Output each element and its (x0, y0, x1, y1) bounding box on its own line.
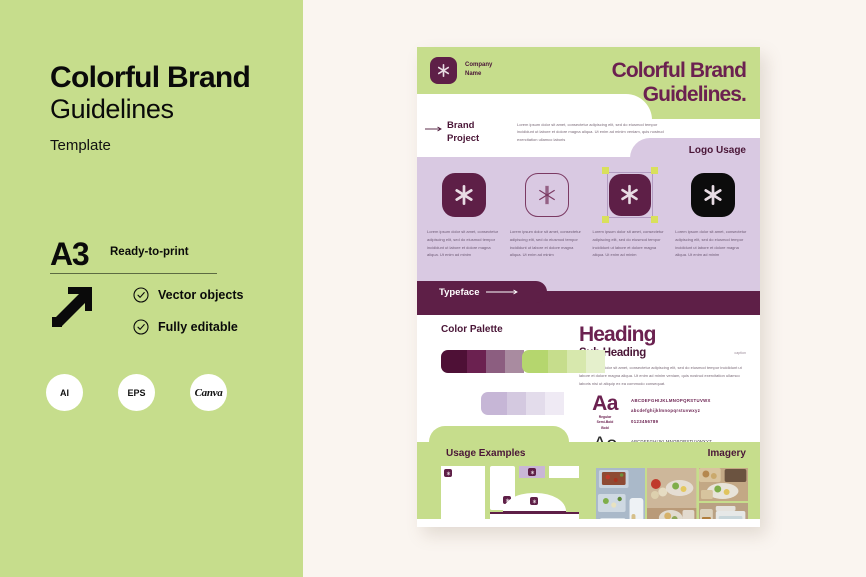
poster-preview[interactable]: Company Name www.yourwebsitehere.com Col… (417, 47, 760, 527)
feature-label: Vector objects (158, 288, 243, 302)
specimen-sample-wrap: Aa Regular Semi-Bold Bold (579, 394, 631, 430)
logo-box (427, 167, 502, 222)
usage-curve-shape (429, 426, 569, 444)
badge-eps: EPS (118, 374, 155, 411)
logo-usage-section: Lorem ipsum dolor sit amet, consectetur … (417, 157, 760, 291)
mockup-card-lilac (519, 466, 545, 478)
left-promo-panel: Colorful Brand Guidelines Template A3 Re… (0, 0, 303, 577)
color-palette-block: Color Palette (429, 324, 573, 442)
asterisk-mark-icon (444, 469, 452, 477)
palette-typography-section: Color Palette Heading Sub Heading captio… (417, 315, 760, 442)
diagonal-arrow-icon (48, 283, 96, 331)
logo-usage-title: Logo Usage (689, 145, 746, 156)
poster-header: Company Name www.yourwebsitehere.com Col… (417, 47, 760, 119)
badge-canva: Canva (190, 374, 227, 411)
promo-title-line2: Guidelines (50, 94, 174, 125)
check-circle-icon (133, 287, 149, 303)
guide-marker-top-right (651, 167, 658, 174)
brand-project-line1: Brand (447, 120, 479, 133)
color-swatch (441, 350, 467, 373)
guide-marker-bottom-right (651, 216, 658, 223)
typeface-tab: Typeface (417, 281, 547, 303)
badge-label: Canva (195, 387, 223, 399)
guide-marker-top-left (602, 167, 609, 174)
mockup-poster (441, 466, 485, 527)
brand-project-strip: Brand Project Lorem ipsum dolor sit amet… (417, 119, 760, 157)
color-palette-title: Color Palette (441, 324, 573, 335)
brand-project-label: Brand Project (447, 120, 479, 146)
color-swatch (522, 350, 548, 373)
divider (50, 273, 217, 274)
feature-fully-editable: Fully editable (133, 319, 238, 335)
logo-variant-grid: Lorem ipsum dolor sit amet, consectetur … (593, 167, 668, 259)
swatch-group-greens (522, 350, 605, 373)
logo-variant-caption: Lorem ipsum dolor sit amet, consectetur … (675, 228, 750, 259)
type-specimen-bold: Aa Regular Semi-Bold Bold ABCDEFGHIJKLMN… (579, 394, 748, 430)
poster-title-line1: Colorful Brand (612, 59, 746, 83)
specimen-uppercase: ABCDEFGHIJKLMNOPQRSTUVWX (631, 394, 711, 404)
feature-vector-objects: Vector objects (133, 287, 243, 303)
format-badges: AI EPS Canva (46, 374, 227, 411)
logo-box (593, 167, 668, 222)
specimen-alphabet: ABCDEFGHIJKLMNOPQRSTUVWX abcdefghijklmno… (631, 394, 711, 424)
logo-box (510, 167, 585, 222)
header-curve-shape (417, 94, 652, 120)
logo-variant-solid: Lorem ipsum dolor sit amet, consectetur … (427, 167, 502, 259)
poster-footer-strip (417, 519, 760, 527)
arrow-right-icon (486, 287, 520, 298)
company-name: Company Name (465, 61, 492, 78)
guide-marker-bottom-left (602, 216, 609, 223)
arrow-right-icon (425, 124, 443, 137)
logo-variant-grid: Lorem ipsum dolor sit amet, consectetur … (427, 167, 750, 259)
badge-label: EPS (127, 388, 145, 398)
color-swatch (481, 392, 507, 415)
imagery-photo (699, 468, 748, 501)
swatch-group-purples (441, 350, 524, 373)
asterisk-mark-solid-icon (442, 173, 486, 217)
logo-clearspace-guides (602, 167, 658, 223)
logo-variant-caption: Lorem ipsum dolor sit amet, consectetur … (427, 228, 502, 259)
asterisk-mark-solid-icon (609, 174, 651, 216)
company-logo-icon (430, 57, 457, 84)
check-circle-icon (133, 319, 149, 335)
feature-label: Fully editable (158, 320, 238, 334)
logo-variant-outline: Lorem ipsum dolor sit amet, consectetur … (510, 167, 585, 259)
swatch-group-lilacs (481, 392, 564, 415)
brand-project-line2: Project (447, 133, 479, 146)
usage-imagery-section: Usage Examples Imagery (417, 442, 760, 527)
typography-block: Heading Sub Heading caption Lorem ipsum … (573, 324, 748, 442)
promo-subtitle: Template (50, 137, 111, 154)
mockup-card-white (549, 466, 579, 478)
typeface-tab-label: Typeface (439, 287, 479, 298)
asterisk-mark-outline-icon (525, 173, 569, 217)
logo-box (675, 167, 750, 222)
specimen-lowercase: abcdefghijklmnopqrstuvwxyz (631, 404, 711, 414)
type-caption-sample: caption (734, 351, 746, 355)
usage-mockups (441, 466, 579, 527)
imagery-title: Imagery (708, 448, 746, 459)
logo-variant-caption: Lorem ipsum dolor sit amet, consectetur … (593, 228, 668, 259)
format-note: Ready-to-print (110, 246, 189, 258)
format-label: A3 (50, 236, 89, 273)
specimen-weights: Regular Semi-Bold Bold (579, 415, 631, 430)
badge-ai: AI (46, 374, 83, 411)
typeface-band: Typeface (417, 291, 760, 315)
logo-variant-caption: Lorem ipsum dolor sit amet, consectetur … (510, 228, 585, 259)
type-heading-sample: Heading (579, 324, 748, 345)
logo-variant-black: Lorem ipsum dolor sit amet, consectetur … (675, 167, 750, 259)
promo-title-line1: Colorful Brand (50, 60, 250, 95)
specimen-aa: Aa (579, 394, 631, 414)
asterisk-mark-icon (530, 497, 538, 505)
asterisk-mark-icon (528, 468, 536, 476)
badge-label: AI (60, 388, 69, 398)
usage-examples-title: Usage Examples (446, 448, 526, 459)
asterisk-mark-black-icon (691, 173, 735, 217)
specimen-numerals: 0123456789 (631, 415, 711, 425)
